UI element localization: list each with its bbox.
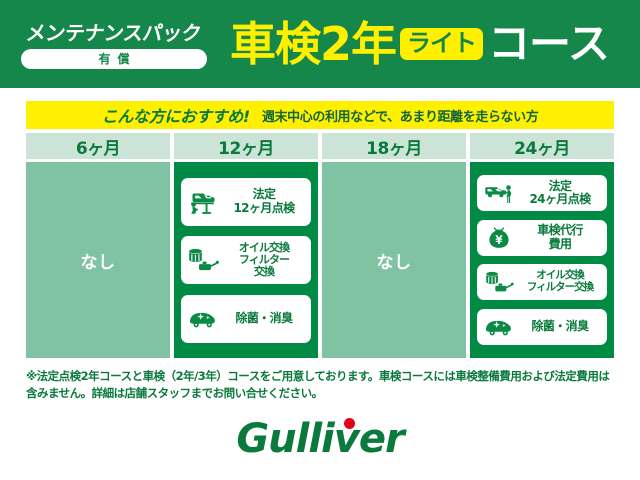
column-12-months: 12ヶ月 法定: [174, 133, 318, 358]
paid-pill-label: 有償: [91, 53, 136, 65]
service-line-2: 費用: [517, 238, 603, 251]
advertisement-page: メンテナンスパック 有償 車検2年 ライト コース こんな方におすすめ! 週末中…: [0, 0, 640, 480]
service-card-inspection-agency-fee: 車検代行 費用: [477, 220, 607, 256]
oil-filter-icon: [185, 247, 221, 273]
service-card-oil-filter-change: オイル交換 フィルター 交換: [181, 236, 311, 284]
service-card-text: オイル交換 フィルター 交換: [221, 242, 307, 279]
service-card-sanitize-deodorize: 除菌・消臭: [477, 309, 607, 345]
car-sanitize-icon: [481, 317, 517, 337]
column-18-months: 18ヶ月 なし: [322, 133, 466, 358]
maintenance-schedule-table: 6ヶ月 なし 12ヶ月: [26, 133, 614, 358]
service-line-2: 24ヶ月点検: [517, 193, 603, 206]
logo-text: Gulliver: [236, 419, 403, 459]
disclaimer-note: ※法定点検2年コースと車検（2年/3年）コースをご用意しております。車検コースに…: [26, 368, 618, 401]
service-line-1: 法定: [221, 188, 307, 201]
service-card-text: 車検代行 費用: [517, 224, 603, 251]
column-6-months: 6ヶ月 なし: [26, 133, 170, 358]
recommend-description: 週末中心の利用などで、あまり距離を走らない方: [262, 106, 538, 125]
service-card-text: オイル交換 フィルター交換: [517, 270, 603, 294]
service-line-1: 除菌・消臭: [221, 312, 307, 325]
service-card-text: 除菌・消臭: [517, 320, 603, 333]
column-body-12-months: 法定 12ヶ月点検: [174, 162, 318, 358]
column-header-6-months: 6ヶ月: [26, 133, 170, 159]
service-card-text: 法定 24ヶ月点検: [517, 180, 603, 207]
service-line-2: フィルター交換: [517, 282, 603, 294]
car-sanitize-icon: [185, 309, 221, 329]
column-header-24-months: 24ヶ月: [470, 133, 614, 159]
maintenance-pack-title: メンテナンスパック: [25, 22, 203, 44]
column-header-18-months: 18ヶ月: [322, 133, 466, 159]
disclaimer-line-1: ※法定点検2年コースと車検（2年/3年）コースをご用意しております。車検コースに…: [26, 368, 618, 385]
light-course-badge: ライト: [400, 28, 483, 60]
recommend-banner: こんな方におすすめ! 週末中心の利用などで、あまり距離を走らない方: [26, 101, 614, 129]
service-line-1: 除菌・消臭: [517, 320, 603, 333]
service-card-oil-filter-change: オイル交換 フィルター交換: [477, 264, 607, 300]
banner-course-label: コース: [488, 23, 609, 65]
disclaimer-line-2: 含みません。詳細は店舗スタッフまでお問い合せください。: [26, 385, 618, 402]
service-line-1: オイル交換: [221, 242, 307, 254]
service-line-3: 交換: [221, 266, 307, 278]
service-card-text: 法定 12ヶ月点検: [221, 188, 307, 215]
recommend-heading: こんな方におすすめ!: [102, 103, 250, 127]
column-body-6-months: なし: [26, 162, 170, 358]
banner-left-group: メンテナンスパック 有償: [0, 20, 228, 69]
brand-logo: Gulliver: [0, 415, 640, 463]
none-label-6-months: なし: [81, 248, 116, 273]
service-line-1: 車検代行: [517, 224, 603, 237]
column-body-18-months: なし: [322, 162, 466, 358]
service-card-legal-12-month-inspection: 法定 12ヶ月点検: [181, 178, 311, 226]
service-card-legal-24-month-inspection: 法定 24ヶ月点検: [477, 175, 607, 211]
paid-pill-badge: 有償: [21, 49, 207, 69]
logo-wrap: Gulliver: [236, 419, 403, 459]
money-bag-icon: [481, 225, 517, 251]
service-line-2: 12ヶ月点検: [221, 202, 307, 215]
oil-filter-icon: [481, 270, 517, 294]
car-lift-inspection-icon: [481, 182, 517, 204]
column-24-months: 24ヶ月: [470, 133, 614, 358]
service-card-sanitize-deodorize: 除菌・消臭: [181, 295, 311, 343]
banner-right-group: 車検2年 ライト コース: [228, 0, 640, 88]
service-card-text: 除菌・消臭: [221, 312, 307, 325]
car-lift-inspection-icon: [185, 189, 221, 215]
column-body-24-months: 法定 24ヶ月点検 車検代行 費用: [470, 162, 614, 358]
top-banner: メンテナンスパック 有償 車検2年 ライト コース: [0, 0, 640, 88]
column-header-12-months: 12ヶ月: [174, 133, 318, 159]
banner-headline: 車検2年: [230, 21, 396, 67]
none-label-18-months: なし: [377, 248, 412, 273]
